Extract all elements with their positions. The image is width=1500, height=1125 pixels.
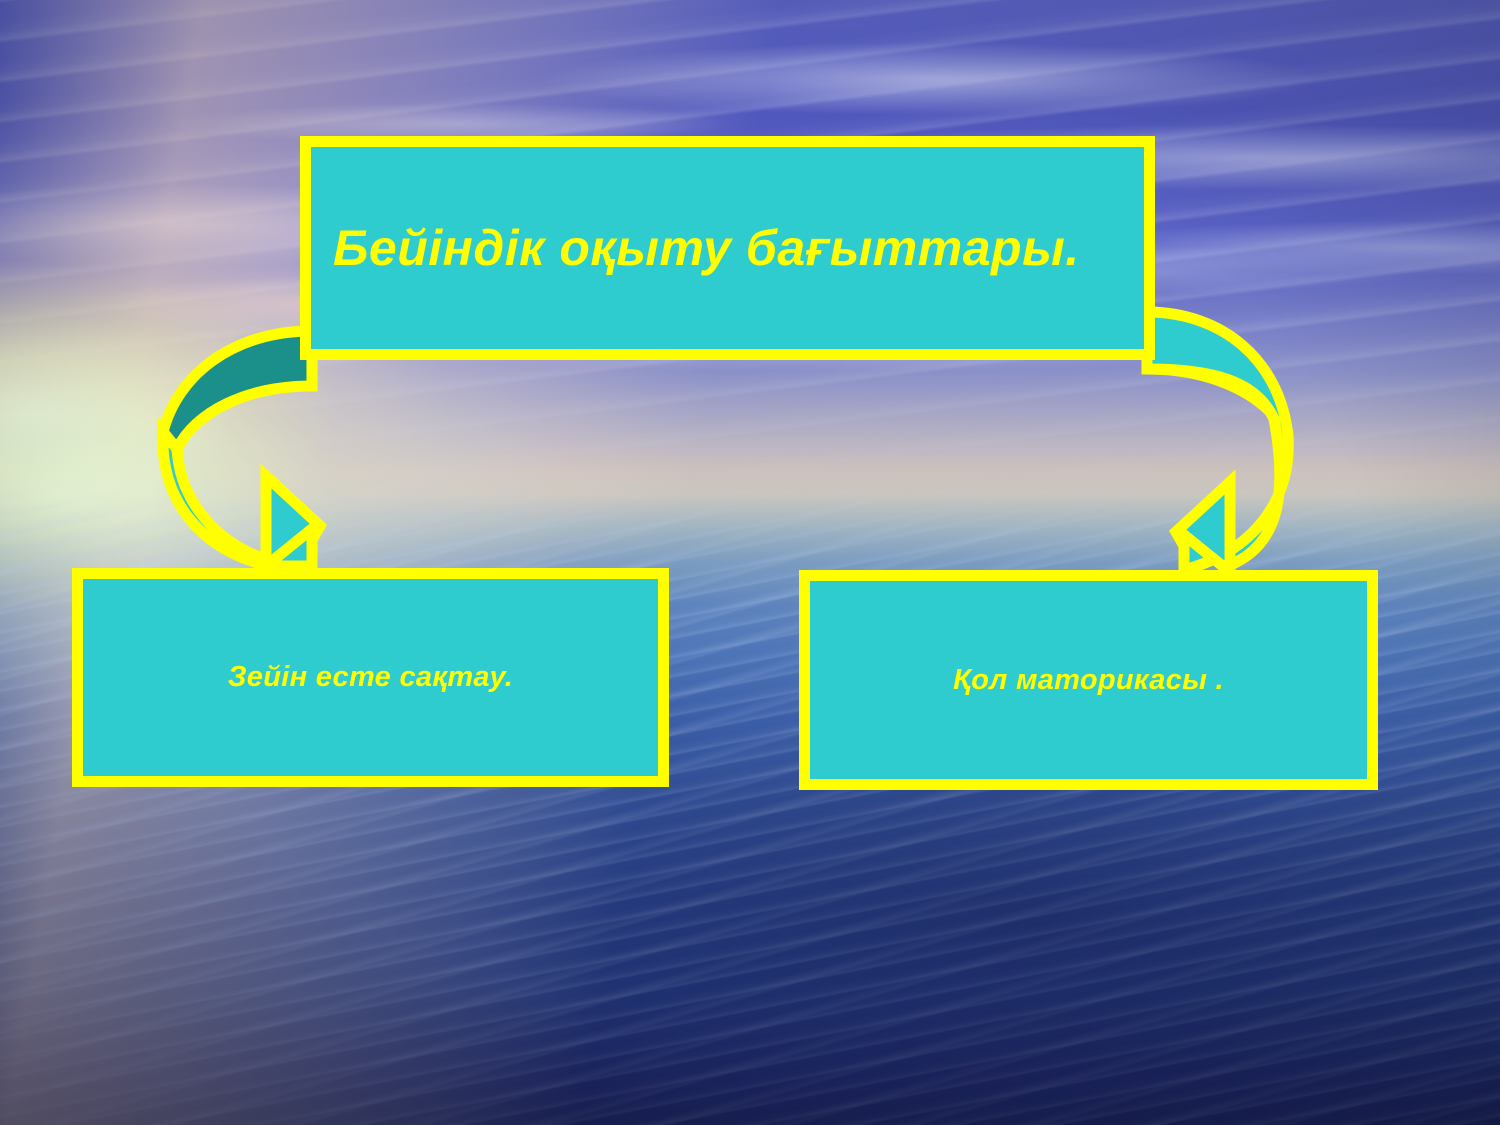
title-box-text: Бейіндік оқыту бағыттары.: [311, 219, 1144, 277]
right-curved-arrow: [1147, 312, 1288, 572]
left-box[interactable]: Зейін есте сақтау.: [72, 568, 669, 787]
title-box[interactable]: Бейіндік оқыту бағыттары.: [300, 136, 1155, 360]
presentation-slide: Бейіндік оқыту бағыттары. Зейін есте сақ…: [0, 0, 1500, 1125]
right-box-text: Қол маторикасы .: [810, 664, 1367, 697]
right-box[interactable]: Қол маторикасы .: [799, 570, 1378, 790]
left-box-text: Зейін есте сақтау.: [83, 661, 658, 694]
left-curved-arrow: [163, 331, 320, 566]
